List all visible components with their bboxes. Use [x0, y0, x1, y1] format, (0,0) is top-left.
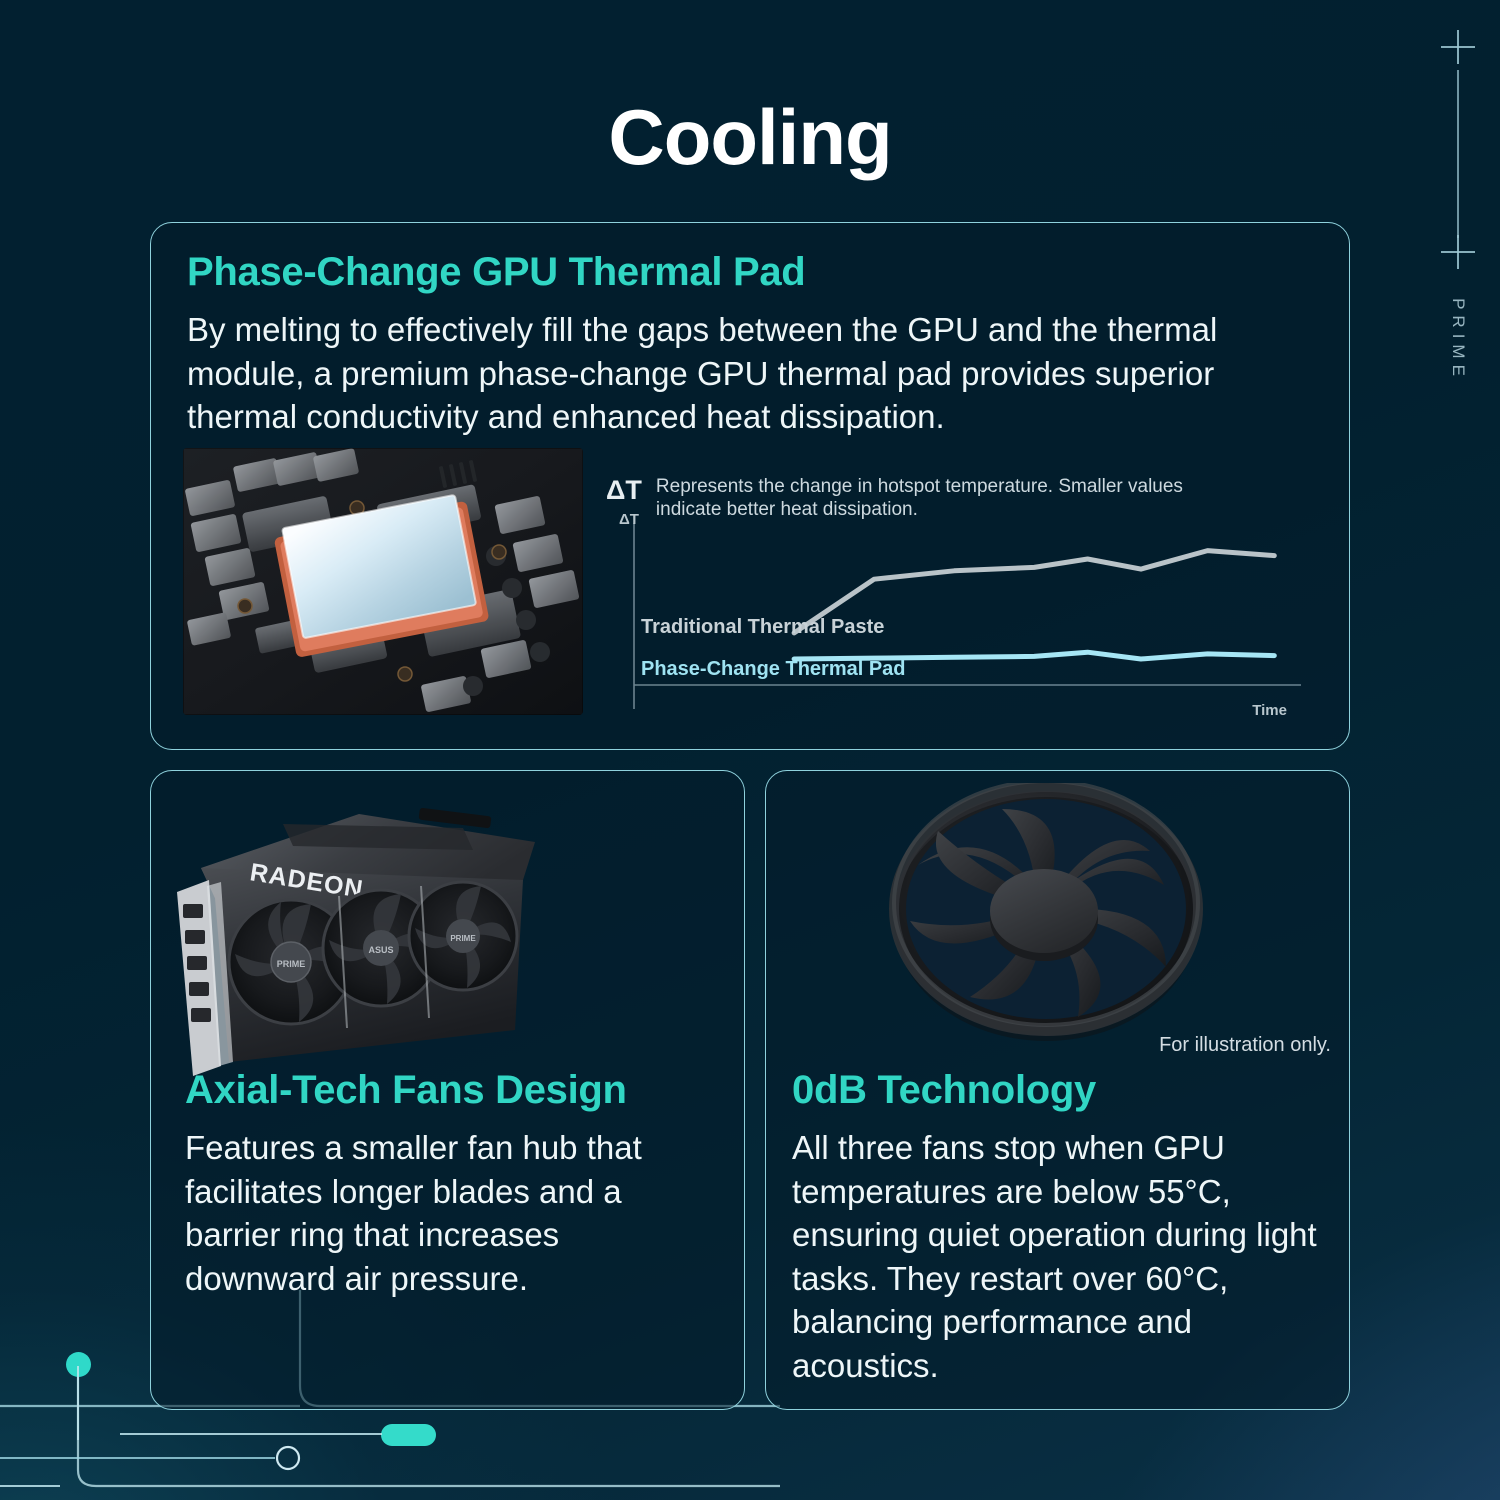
axial-fans-heading: Axial-Tech Fans Design: [185, 1069, 627, 1111]
plus-mark-icon: [1441, 30, 1475, 64]
delta-t-note: ΔT Represents the change in hotspot temp…: [606, 475, 1216, 521]
svg-text:PRIME: PRIME: [277, 959, 306, 969]
zero-db-body: All three fans stop when GPU temperature…: [792, 1126, 1332, 1387]
circuit-node-ring: [277, 1447, 299, 1469]
circuit-decoration-lower: [0, 1420, 800, 1500]
cooling-page: PRIME Cooling Phase-Change GPU Thermal P…: [0, 0, 1500, 1500]
card-phase-change-thermal-pad: Phase-Change GPU Thermal Pad By melting …: [150, 222, 1350, 750]
chart-x-axis-label: Time: [1252, 702, 1287, 719]
thermal-pad-heading: Phase-Change GPU Thermal Pad: [187, 251, 805, 293]
prime-brand-label: PRIME: [1448, 298, 1468, 382]
card-axial-tech-fans: RADEON PRIME: [150, 770, 745, 1410]
gpu-die-photo: [183, 448, 583, 715]
circuit-node-dot: [66, 1352, 91, 1377]
svg-text:PRIME: PRIME: [450, 934, 476, 943]
illustration-note: For illustration only.: [1159, 1034, 1331, 1057]
axial-fans-body: Features a smaller fan hub that facilita…: [185, 1126, 705, 1300]
circuit-line-to-pill: [120, 1433, 382, 1435]
legend-phase-change-thermal-pad: Phase-Change Thermal Pad: [641, 658, 906, 681]
legend-traditional-thermal-paste: Traditional Thermal Paste: [641, 616, 884, 639]
delta-t-description: Represents the change in hotspot tempera…: [656, 475, 1216, 521]
circuit-pill: [381, 1424, 436, 1446]
delta-t-icon: ΔT: [606, 475, 642, 507]
thermal-pad-body: By melting to effectively fill the gaps …: [187, 308, 1317, 439]
zero-db-heading: 0dB Technology: [792, 1069, 1096, 1111]
page-title: Cooling: [0, 92, 1500, 183]
graphics-card-image: RADEON PRIME: [163, 776, 543, 1076]
circuit-line-vertical: [77, 1366, 79, 1440]
svg-text:ASUS: ASUS: [368, 945, 393, 955]
card-0db-technology: For illustration only. 0dB Technology Al…: [765, 770, 1350, 1410]
plus-mark-icon: [1441, 235, 1475, 269]
fan-blade-image: [876, 783, 1216, 1051]
